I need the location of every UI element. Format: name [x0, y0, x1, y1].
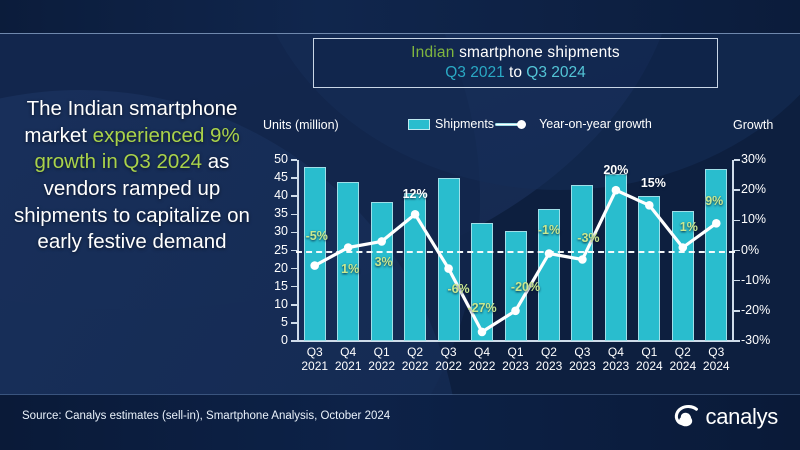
right-axis-tick-label: 20%: [741, 182, 787, 196]
x-axis-label: Q32021: [298, 345, 331, 373]
left-axis-tick-label: 45: [246, 170, 288, 184]
axis-tick: [291, 195, 297, 197]
growth-data-point[interactable]: [444, 264, 453, 273]
axis-tick: [291, 322, 297, 324]
right-axis-tick-label: 30%: [741, 152, 787, 166]
right-axis-tick-label: -10%: [741, 273, 787, 287]
growth-data-point[interactable]: [411, 210, 420, 219]
left-axis-tick-label: 20: [246, 261, 288, 275]
left-axis-tick-label: 35: [246, 206, 288, 220]
growth-data-point[interactable]: [478, 328, 487, 337]
chart-title-box: Indian smartphone shipments Q3 2021 to Q…: [313, 38, 718, 88]
title-rest: smartphone shipments: [455, 44, 620, 61]
left-axis-tick-label: 30: [246, 224, 288, 238]
axis-tick: [734, 189, 740, 191]
growth-data-point[interactable]: [377, 237, 386, 246]
axis-tick: [291, 159, 297, 161]
axis-tick: [291, 177, 297, 179]
right-axis-tick-label: 0%: [741, 243, 787, 257]
growth-value-label: 20%: [603, 163, 628, 177]
chart-title-line1: Indian smartphone shipments: [411, 44, 620, 62]
growth-data-point[interactable]: [545, 249, 554, 258]
growth-value-label: 12%: [403, 187, 428, 201]
growth-data-point[interactable]: [645, 201, 654, 210]
narrative-text: The Indian smartphone market experienced…: [8, 96, 256, 256]
left-axis-tick-label: 15: [246, 279, 288, 293]
legend-swatch-icon: [408, 119, 430, 130]
growth-data-point[interactable]: [578, 255, 587, 264]
title-to: to: [505, 64, 527, 81]
canalys-mark-icon: [673, 404, 699, 430]
x-axis-label: Q32023: [566, 345, 599, 373]
growth-value-label: 1%: [341, 262, 359, 276]
axis-tick: [734, 220, 740, 222]
growth-value-label: -3%: [577, 231, 599, 245]
axis-tick: [734, 280, 740, 282]
growth-value-label: 15%: [641, 176, 666, 190]
x-axis-label: Q22022: [398, 345, 431, 373]
left-axis-tick-label: 0: [246, 333, 288, 347]
x-axis-label: Q42021: [331, 345, 364, 373]
title-indian: Indian: [411, 44, 454, 61]
axis-tick: [291, 268, 297, 270]
right-axis-caption: Growth: [733, 118, 773, 132]
axis-tick: [291, 214, 297, 216]
axis-tick: [734, 159, 740, 161]
growth-data-point[interactable]: [310, 261, 319, 270]
growth-data-point[interactable]: [612, 186, 621, 195]
chart-title-line2: Q3 2021 to Q3 2024: [445, 64, 585, 82]
left-axis-tick-label: 10: [246, 297, 288, 311]
axis-tick: [734, 310, 740, 312]
x-axis-label: Q12023: [499, 345, 532, 373]
growth-data-point[interactable]: [712, 219, 721, 228]
growth-value-label: -5%: [306, 229, 328, 243]
x-axis-label: Q32022: [432, 345, 465, 373]
axis-tick: [734, 340, 740, 342]
left-axis-tick-label: 25: [246, 243, 288, 257]
top-band: [0, 0, 800, 34]
slide-canvas: Indian smartphone shipments Q3 2021 to Q…: [0, 0, 800, 450]
x-axis-label: Q12024: [633, 345, 666, 373]
growth-value-label: -20%: [511, 280, 540, 294]
legend-item-growth[interactable]: Year-on-year growth: [508, 117, 652, 131]
growth-data-point[interactable]: [344, 243, 353, 252]
canalys-wordmark: canalys: [706, 404, 779, 430]
legend-item-shipments[interactable]: Shipments: [408, 117, 494, 131]
left-axis-tick-label: 40: [246, 188, 288, 202]
right-axis-tick-label: -20%: [741, 303, 787, 317]
x-axis-label: Q42022: [465, 345, 498, 373]
right-axis-tick-label: -30%: [741, 333, 787, 347]
plot-area: 05101520253035404550 -30%-20%-10%0%10%20…: [298, 160, 733, 341]
growth-data-point[interactable]: [511, 307, 520, 316]
right-axis-tick-label: 10%: [741, 212, 787, 226]
growth-value-label: 1%: [680, 220, 698, 234]
left-axis-caption: Units (million): [263, 118, 339, 132]
legend-line-marker-icon: [508, 119, 534, 130]
growth-value-label: 9%: [705, 194, 723, 208]
canalys-logo: canalys: [673, 404, 779, 430]
axis-tick: [291, 340, 297, 342]
growth-value-label: -1%: [538, 223, 560, 237]
x-axis-label: Q32024: [700, 345, 733, 373]
title-period-start: Q3 2021: [445, 64, 504, 81]
left-axis-tick-label: 5: [246, 315, 288, 329]
axis-tick: [291, 304, 297, 306]
x-axis-label: Q22023: [532, 345, 565, 373]
axis-tick: [291, 286, 297, 288]
growth-data-point[interactable]: [679, 243, 688, 252]
growth-line-series: [298, 160, 733, 341]
legend-label-shipments: Shipments: [435, 117, 494, 131]
growth-value-label: -27%: [467, 301, 496, 315]
x-axis-label: Q12022: [365, 345, 398, 373]
title-period-end: Q3 2024: [526, 64, 585, 81]
growth-value-label: -6%: [447, 282, 469, 296]
chart-legend: Shipments Year-on-year growth: [408, 117, 652, 131]
legend-label-growth: Year-on-year growth: [539, 117, 652, 131]
growth-value-label: 3%: [375, 255, 393, 269]
x-axis-label: Q22024: [666, 345, 699, 373]
source-note: Source: Canalys estimates (sell-in), Sma…: [22, 410, 390, 422]
axis-tick: [291, 232, 297, 234]
left-axis-tick-label: 50: [246, 152, 288, 166]
x-axis-label: Q42023: [599, 345, 632, 373]
